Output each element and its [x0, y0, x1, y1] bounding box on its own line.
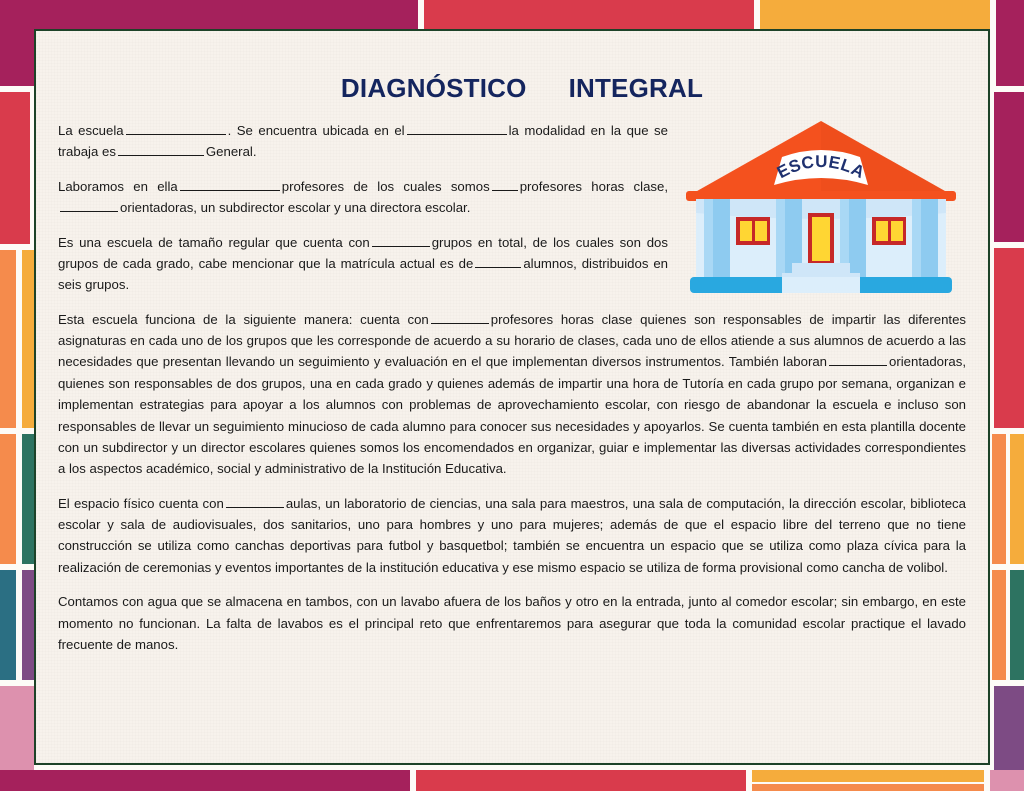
- p4-text-a: Esta escuela funciona de la siguiente ma…: [58, 312, 429, 327]
- p4-text-c: orientadoras, quienes son responsables d…: [58, 354, 966, 476]
- title-integral: INTEGRAL: [569, 73, 703, 103]
- blank-field[interactable]: [60, 200, 118, 213]
- background-tile: [0, 434, 16, 564]
- blank-field[interactable]: [829, 354, 887, 367]
- window-left-pane-b: [755, 221, 767, 241]
- background-tile: [0, 250, 16, 428]
- blank-field[interactable]: [180, 178, 280, 191]
- background-tile: [416, 770, 746, 791]
- base-step-front: [782, 277, 860, 293]
- column-4-highlight: [912, 199, 921, 281]
- window-left-pane-a: [740, 221, 752, 241]
- p1-text-b: . Se encuentra ubicada en el: [228, 123, 405, 138]
- paragraph-6: Contamos con agua que se almacena en tam…: [58, 591, 966, 655]
- background-tile: [990, 770, 1024, 791]
- blank-field[interactable]: [372, 234, 430, 247]
- p2-text-a: Laboramos en ella: [58, 179, 178, 194]
- background-tile: [1010, 570, 1024, 680]
- background-tile: [0, 570, 16, 680]
- paragraph-4: Esta escuela funciona de la siguiente ma…: [58, 309, 966, 480]
- column-2-highlight: [776, 199, 785, 281]
- page-title: DIAGNÓSTICOINTEGRAL: [58, 73, 966, 104]
- background-tile: [1010, 434, 1024, 564]
- background-tile: [994, 248, 1024, 428]
- p3-text-a: Es una escuela de tamaño regular que cue…: [58, 235, 370, 250]
- blank-field[interactable]: [475, 255, 521, 268]
- title-diagnostico: DIAGNÓSTICO: [341, 73, 527, 103]
- p1-text-a: La escuela: [58, 123, 124, 138]
- background-tile: [752, 784, 984, 791]
- background-tile: [0, 92, 30, 244]
- paragraph-2: Laboramos en ellaprofesores de los cuale…: [58, 176, 668, 219]
- window-right-pane-a: [876, 221, 888, 241]
- background-tile: [0, 770, 410, 791]
- background-tile: [752, 770, 984, 782]
- blank-field[interactable]: [431, 311, 489, 324]
- p2-text-b: profesores de los cuales somos: [282, 179, 490, 194]
- background-tile: [22, 570, 34, 680]
- background-tile: [994, 92, 1024, 242]
- door-panel: [812, 217, 830, 261]
- background-tile: [992, 434, 1006, 564]
- p5-text-a: El espacio físico cuenta con: [58, 496, 224, 511]
- blank-field[interactable]: [492, 178, 518, 191]
- window-right-pane-b: [891, 221, 903, 241]
- blank-field[interactable]: [407, 122, 507, 135]
- blank-field[interactable]: [126, 122, 226, 135]
- blank-field[interactable]: [226, 495, 284, 508]
- background-tile: [996, 0, 1024, 86]
- p1-text-d: General.: [206, 144, 257, 159]
- column-1-highlight: [704, 199, 713, 281]
- paragraph-3: Es una escuela de tamaño regular que cue…: [58, 232, 668, 296]
- p2-text-c: profesores horas clase,: [520, 179, 668, 194]
- paragraph-1: La escuela. Se encuentra ubicada en ella…: [58, 120, 668, 163]
- blank-field[interactable]: [118, 144, 204, 157]
- document-sheet: DIAGNÓSTICOINTEGRAL La escuela. Se encue…: [34, 29, 990, 765]
- paragraph-5: El espacio físico cuenta conaulas, un la…: [58, 493, 966, 579]
- background-tile: [22, 434, 34, 564]
- school-building-illustration: ESCUELA: [680, 113, 962, 303]
- p2-text-d: orientadoras, un subdirector escolar y u…: [120, 200, 470, 215]
- background-tile: [992, 570, 1006, 680]
- background-tile: [22, 250, 34, 428]
